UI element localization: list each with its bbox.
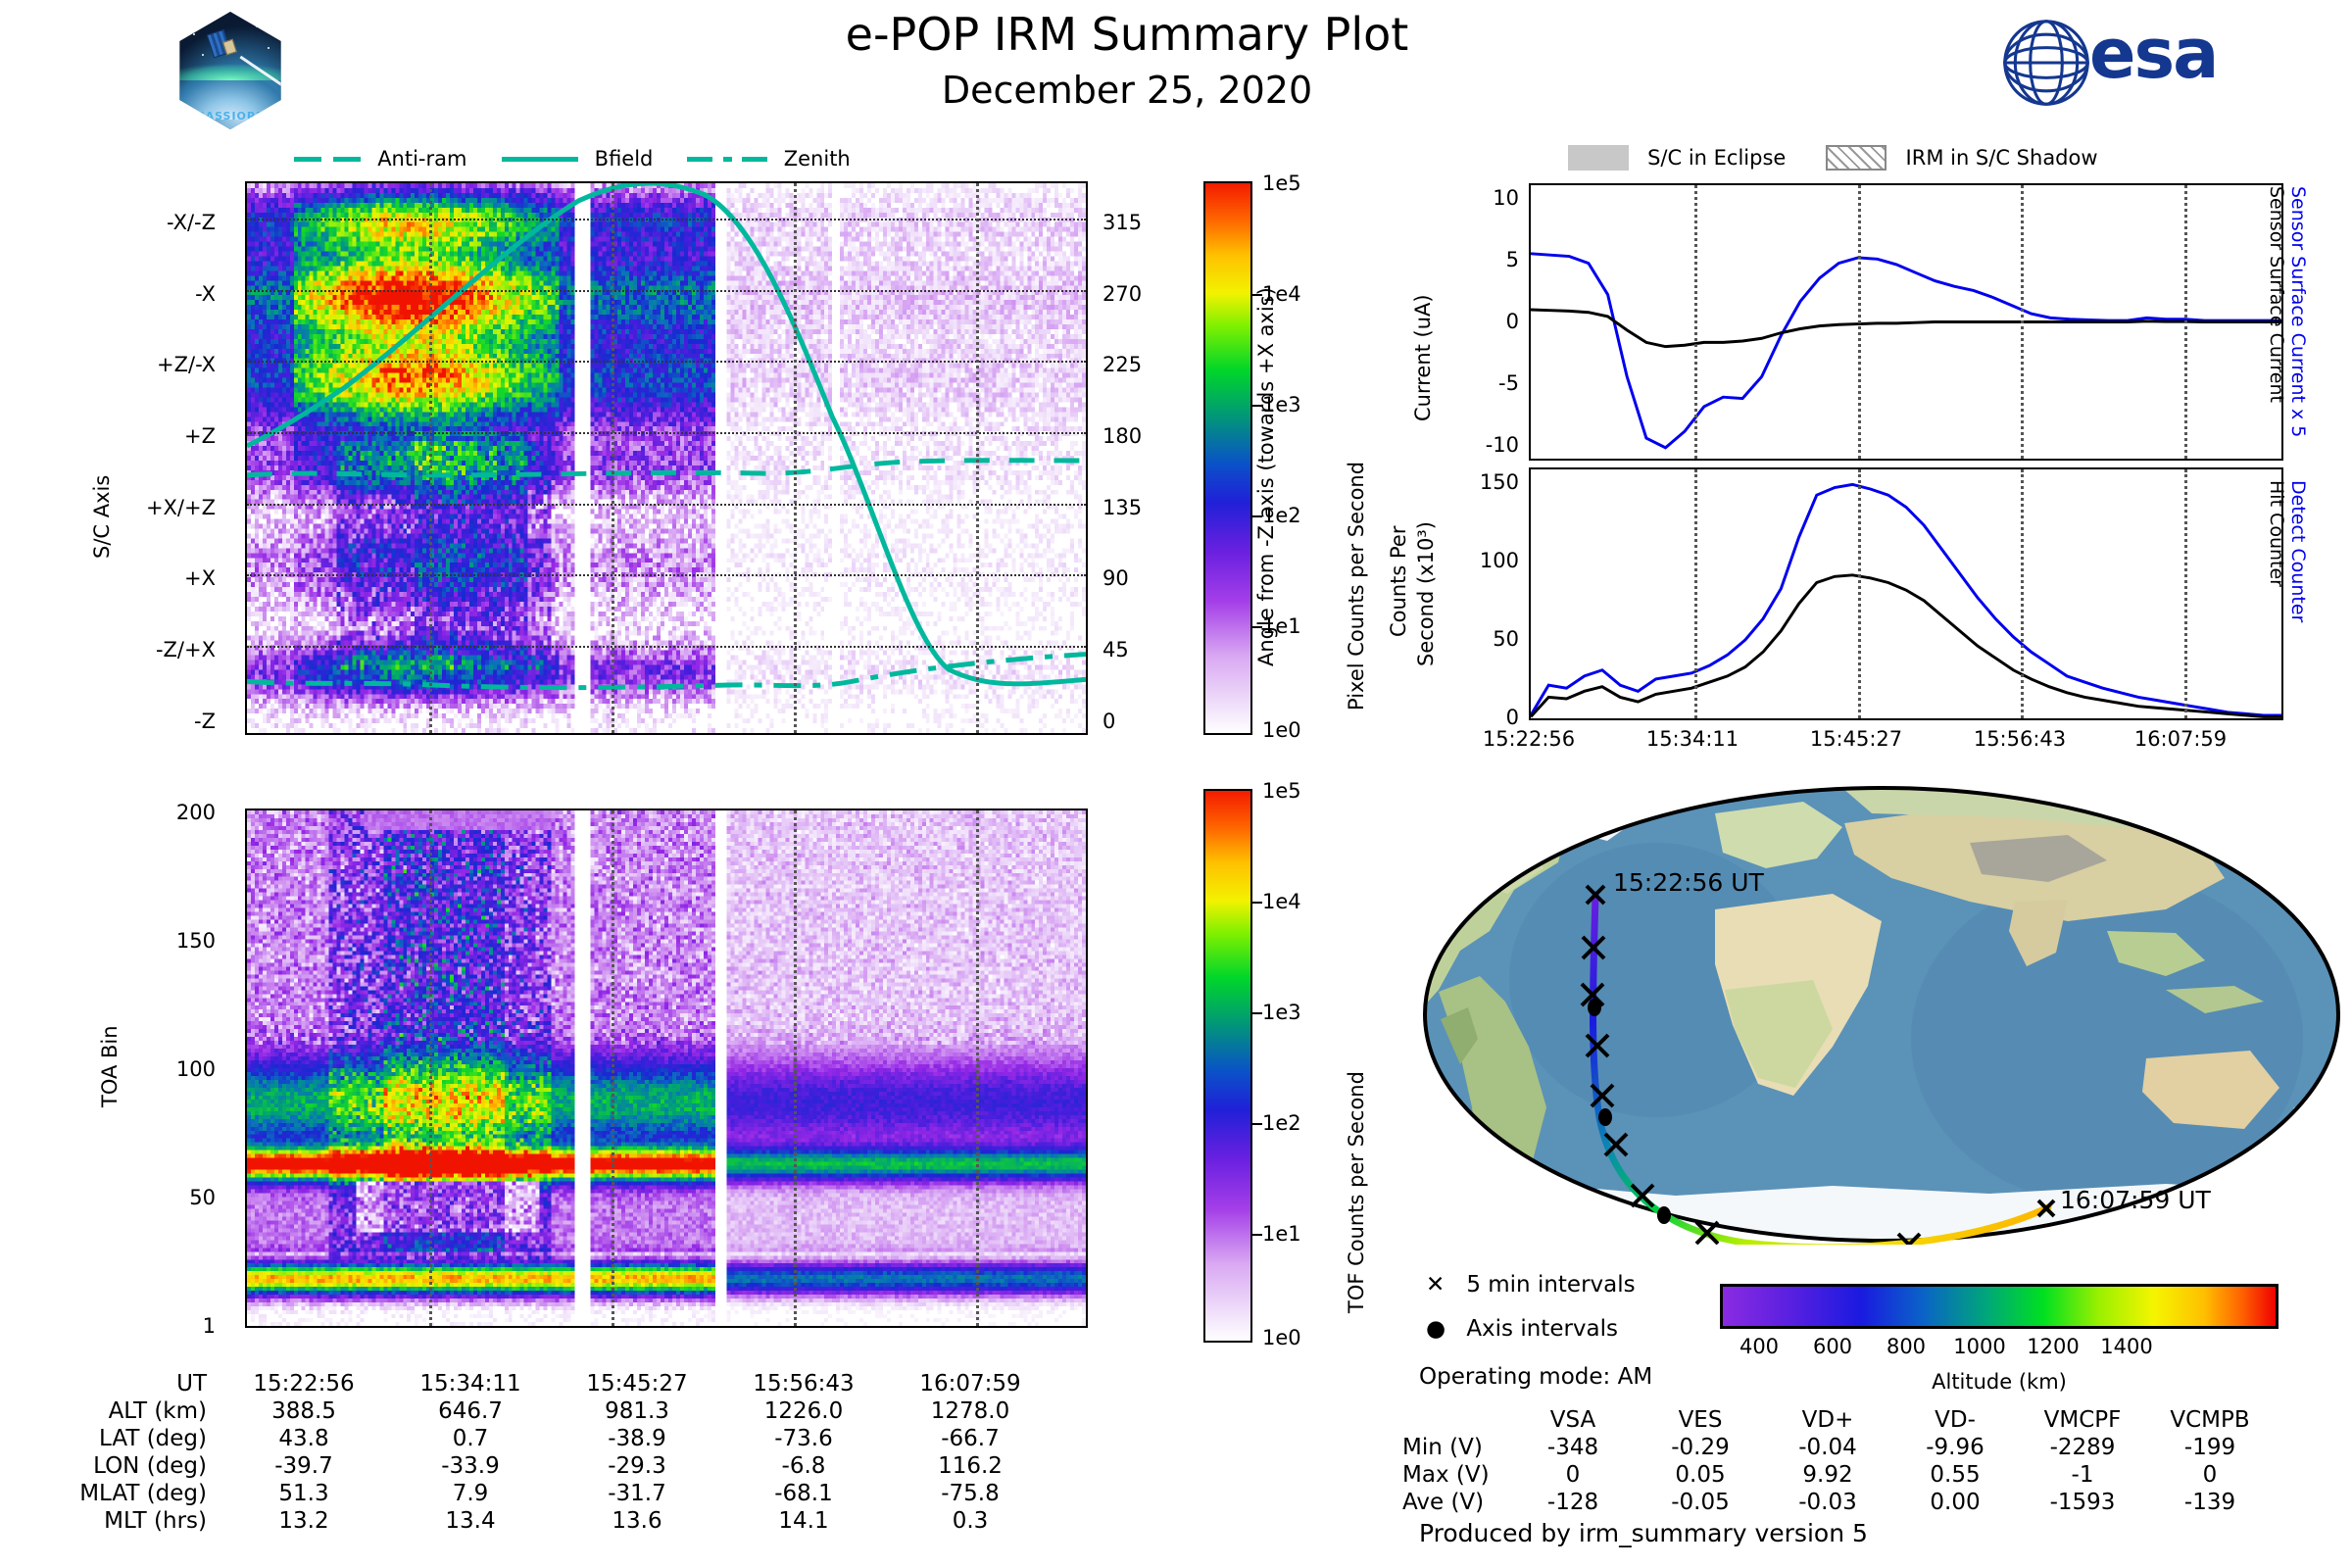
legend-label-bfield: Bfield: [595, 147, 654, 171]
angle-ytick-1: -X: [88, 282, 216, 306]
vt-column-header: VES: [1637, 1406, 1764, 1434]
table-row: LAT (deg)43.80.7-38.9-73.6-66.7: [10, 1425, 1053, 1452]
vt-cell: -2289: [2019, 1434, 2146, 1461]
cb2-tick-0: 1e5: [1262, 779, 1301, 803]
vt-cell: -199: [2146, 1434, 2274, 1461]
shadow-swatch: [1826, 145, 1886, 171]
eph-cell: -6.8: [720, 1452, 887, 1480]
angle-ytick-3: +Z: [88, 424, 216, 448]
vt-row-label: Ave (V): [1401, 1489, 1509, 1516]
map-end-time-label: 16:07:59 UT: [2060, 1186, 2211, 1214]
tof-counts-colorbar: [1203, 789, 1252, 1343]
vt-cell: 0: [1509, 1461, 1637, 1489]
angle-panel-ylabel-right: Angle from -Z axis (towards +X axis): [1254, 287, 1278, 666]
dot-marker-icon: ●: [1426, 1316, 1459, 1342]
vt-cell: 0: [2146, 1461, 2274, 1489]
cur-ytick-3: -5: [1401, 371, 1519, 395]
ground-track-map[interactable]: 15:22:56 UT 16:07:59 UT: [1421, 784, 2342, 1245]
angle-ytick-4: +X/+Z: [88, 496, 216, 519]
eph-cell: 15:56:43: [720, 1370, 887, 1397]
eph-cell: 15:45:27: [554, 1370, 720, 1397]
eph-cell: 13.4: [387, 1507, 554, 1535]
series-0: [1531, 484, 2281, 715]
series-0: [1531, 254, 2281, 448]
cnt-ytick-0: 150: [1401, 470, 1519, 494]
operating-mode-label: Operating mode: AM: [1419, 1364, 1652, 1390]
series-1: [1531, 310, 2281, 347]
table-row: LON (deg)-39.7-33.9-29.3-6.8116.2: [10, 1452, 1053, 1480]
map-legend-5min: ✕ 5 min intervals: [1426, 1272, 1636, 1298]
eph-row-label: MLT (hrs): [10, 1507, 220, 1535]
legend-label-zenith: Zenith: [784, 147, 851, 171]
eph-cell: 51.3: [220, 1480, 387, 1507]
angle-panel-legend: Anti-ram Bfield Zenith: [294, 147, 1039, 180]
eph-row-label: LON (deg): [10, 1452, 220, 1480]
cb1-tick-5: 1e0: [1262, 718, 1301, 742]
angle-ytick-right-2: 225: [1102, 353, 1142, 376]
vt-cell: -0.04: [1764, 1434, 1891, 1461]
map-legend-axis: ● Axis intervals: [1426, 1316, 1618, 1342]
cb1-tick-2: 1e3: [1262, 393, 1301, 416]
esa-logo: esa: [1999, 8, 2293, 116]
vt-cell: -0.05: [1637, 1489, 1764, 1516]
toa-ytick-3: 50: [88, 1186, 216, 1209]
eph-cell: 43.8: [220, 1425, 387, 1452]
table-row: MLT (hrs)13.213.413.614.10.3: [10, 1507, 1053, 1535]
angle-ytick-right-4: 135: [1102, 496, 1142, 519]
vt-column-header: VD+: [1764, 1406, 1891, 1434]
vt-column-header: VD-: [1891, 1406, 2019, 1434]
zenith-dash-2: [742, 157, 767, 162]
page-title: e-POP IRM Summary Plot: [588, 8, 1666, 61]
counts-panel[interactable]: [1529, 467, 2283, 720]
cur-ytick-4: -10: [1401, 433, 1519, 457]
eph-cell: 1226.0: [720, 1397, 887, 1425]
cnt-ytick-1: 100: [1401, 549, 1519, 572]
current-panel[interactable]: [1529, 183, 2283, 461]
vt-cell: -0.29: [1637, 1434, 1764, 1461]
angle-ytick-right-7: 0: [1102, 710, 1115, 733]
right-time-tick-0: 15:22:56: [1441, 727, 1617, 751]
eph-cell: -29.3: [554, 1452, 720, 1480]
vt-row-label: Min (V): [1401, 1434, 1509, 1461]
cb1-tick-0: 1e5: [1262, 171, 1301, 195]
vt-cell: -1: [2019, 1461, 2146, 1489]
vt-cell: -128: [1509, 1489, 1637, 1516]
table-row: UT15:22:5615:34:1115:45:2715:56:4316:07:…: [10, 1370, 1053, 1397]
series-1: [1531, 575, 2281, 717]
vt-cell: 9.92: [1764, 1461, 1891, 1489]
altitude-colorbar-label: Altitude (km): [1852, 1370, 2146, 1394]
eph-cell: 7.9: [387, 1480, 554, 1507]
vt-column-header: VCMPB: [2146, 1406, 2274, 1434]
alt-tick-5: 1400: [2078, 1335, 2176, 1358]
footer-produced-by: Produced by irm_summary version 5: [1419, 1519, 1868, 1547]
eph-cell: 1278.0: [887, 1397, 1053, 1425]
angle-ytick-right-6: 45: [1102, 638, 1129, 661]
vt-cell: -139: [2146, 1489, 2274, 1516]
eph-cell: 15:34:11: [387, 1370, 554, 1397]
anti-ram-dash-2: [333, 157, 361, 162]
vt-cell: 0.55: [1891, 1461, 2019, 1489]
vt-cell: -1593: [2019, 1489, 2146, 1516]
angle-ytick-right-3: 180: [1102, 424, 1142, 448]
x-marker-icon: ✕: [1426, 1272, 1459, 1298]
legend-label-eclipse: S/C in Eclipse: [1647, 146, 1786, 170]
vt-column-header: VSA: [1509, 1406, 1637, 1434]
cassiope-logo-text: CASSIOPE: [171, 110, 289, 122]
toa-ytick-2: 100: [88, 1057, 216, 1081]
table-row: MLAT (deg)51.37.9-31.7-68.1-75.8: [10, 1480, 1053, 1507]
table-row: ALT (km)388.5646.7981.31226.01278.0: [10, 1397, 1053, 1425]
altitude-colorbar: [1720, 1284, 2278, 1329]
anti-ram-curve: [247, 461, 1086, 475]
eph-cell: -31.7: [554, 1480, 720, 1507]
eph-cell: 116.2: [887, 1452, 1053, 1480]
cb1-tick-3: 1e2: [1262, 504, 1301, 527]
vt-cell: -9.96: [1891, 1434, 2019, 1461]
counts-panel-ylabel-1: Counts Per: [1387, 526, 1410, 637]
angle-ytick-7: -Z: [88, 710, 216, 733]
right-panel-legend: S/C in Eclipse IRM in S/C Shadow: [1568, 145, 2352, 176]
vt-column-header: VMCPF: [2019, 1406, 2146, 1434]
eph-cell: 981.3: [554, 1397, 720, 1425]
map-legend-axis-label: Axis intervals: [1466, 1316, 1618, 1342]
cb1-tick-1: 1e4: [1262, 282, 1301, 306]
eph-cell: 14.1: [720, 1507, 887, 1535]
eph-cell: -38.9: [554, 1425, 720, 1452]
cnt-ytick-3: 0: [1401, 706, 1519, 729]
eph-cell: 646.7: [387, 1397, 554, 1425]
right-time-tick-2: 15:45:27: [1768, 727, 1944, 751]
right-time-tick-4: 16:07:59: [2092, 727, 2269, 751]
angle-ytick-right-5: 90: [1102, 566, 1129, 590]
angle-ytick-2: +Z/-X: [88, 353, 216, 376]
eph-cell: -39.7: [220, 1452, 387, 1480]
eph-row-label: MLAT (deg): [10, 1480, 220, 1507]
eph-cell: -66.7: [887, 1425, 1053, 1452]
vt-cell: -348: [1509, 1434, 1637, 1461]
toa-spectrogram-image: [247, 810, 1086, 1326]
cb2-tick-4: 1e1: [1262, 1222, 1301, 1246]
eph-row-label: LAT (deg): [10, 1425, 220, 1452]
vt-cell: -0.03: [1764, 1489, 1891, 1516]
cb2-label: TOF Counts per Second: [1345, 1071, 1368, 1313]
angle-ytick-0: -X/-Z: [88, 211, 216, 234]
cb2-tick-2: 1e3: [1262, 1001, 1301, 1024]
cb2-tick-5: 1e0: [1262, 1326, 1301, 1349]
table-row: Min (V)-348-0.29-0.04-9.96-2289-199: [1401, 1434, 2274, 1461]
angle-ytick-5: +X: [88, 566, 216, 590]
eph-cell: 388.5: [220, 1397, 387, 1425]
eph-cell: 16:07:59: [887, 1370, 1053, 1397]
cb2-tick-3: 1e2: [1262, 1111, 1301, 1135]
map-legend-5min-label: 5 min intervals: [1466, 1272, 1635, 1298]
legend-label-shadow: IRM in S/C Shadow: [1906, 146, 2098, 170]
eph-cell: -33.9: [387, 1452, 554, 1480]
cur-ytick-2: 0: [1401, 310, 1519, 333]
eph-cell: -68.1: [720, 1480, 887, 1507]
cur-ytick-0: 10: [1401, 186, 1519, 210]
angle-ytick-right-1: 270: [1102, 282, 1142, 306]
angle-ytick-right-0: 315: [1102, 211, 1142, 234]
table-row: Max (V)00.059.920.55-10: [1401, 1461, 2274, 1489]
toa-ytick-1: 150: [88, 929, 216, 953]
esa-logo-text: esa: [2089, 14, 2217, 94]
eph-cell: -73.6: [720, 1425, 887, 1452]
eph-cell: 13.2: [220, 1507, 387, 1535]
zenith-dash-1: [687, 157, 712, 162]
vt-row-label: Max (V): [1401, 1461, 1509, 1489]
current-right-label-black: Sensor Surface Current: [2266, 186, 2287, 403]
eph-cell: 13.6: [554, 1507, 720, 1535]
cb1-tick-4: 1e1: [1262, 614, 1301, 638]
eph-row-label: ALT (km): [10, 1397, 220, 1425]
zenith-curve: [247, 655, 1086, 688]
bfield-solid-line: [502, 157, 578, 162]
legend-label-anti-ram: Anti-ram: [377, 147, 466, 171]
toa-ytick-4: 1: [88, 1314, 216, 1338]
map-start-time-label: 15:22:56 UT: [1613, 868, 1764, 897]
cnt-ytick-2: 50: [1401, 627, 1519, 651]
eclipse-swatch: [1568, 145, 1629, 171]
vt-cell: 0.00: [1891, 1489, 2019, 1516]
page-subtitle: December 25, 2020: [588, 69, 1666, 112]
pixel-counts-colorbar: [1203, 181, 1252, 735]
eph-row-label: UT: [10, 1370, 220, 1397]
vt-corner: [1401, 1406, 1509, 1434]
angle-ytick-6: -Z/+X: [88, 638, 216, 661]
toa-ytick-0: 200: [88, 801, 216, 824]
eph-cell: 0.7: [387, 1425, 554, 1452]
cur-ytick-1: 5: [1401, 248, 1519, 271]
cb2-tick-1: 1e4: [1262, 890, 1301, 913]
counts-right-label-blue: Detect Counter: [2287, 480, 2309, 622]
eph-cell: 0.3: [887, 1507, 1053, 1535]
table-row: Ave (V)-128-0.05-0.030.00-1593-139: [1401, 1489, 2274, 1516]
eph-cell: 15:22:56: [220, 1370, 387, 1397]
right-time-tick-1: 15:34:11: [1604, 727, 1781, 751]
zenith-dot: [723, 157, 732, 162]
toa-spectrogram-panel[interactable]: [245, 808, 1088, 1328]
eph-cell: -75.8: [887, 1480, 1053, 1507]
right-time-tick-3: 15:56:43: [1932, 727, 2108, 751]
esa-globe-icon: [1999, 16, 2093, 110]
voltage-table: VSAVESVD+VD-VMCPFVCMPB Min (V)-348-0.29-…: [1401, 1406, 2274, 1516]
anti-ram-dash-1: [294, 157, 321, 162]
angle-spectrogram-panel[interactable]: [245, 181, 1088, 735]
cb1-label: Pixel Counts per Second: [1345, 462, 1368, 710]
counts-right-label-black: Hit Counter: [2266, 480, 2287, 587]
current-right-label-blue: Sensor Surface Current x 5: [2287, 186, 2309, 437]
vt-cell: 0.05: [1637, 1461, 1764, 1489]
cassiope-mission-logo: CASSIOPE: [171, 12, 289, 129]
ephemeris-table: UT15:22:5615:34:1115:45:2715:56:4316:07:…: [10, 1370, 1053, 1535]
